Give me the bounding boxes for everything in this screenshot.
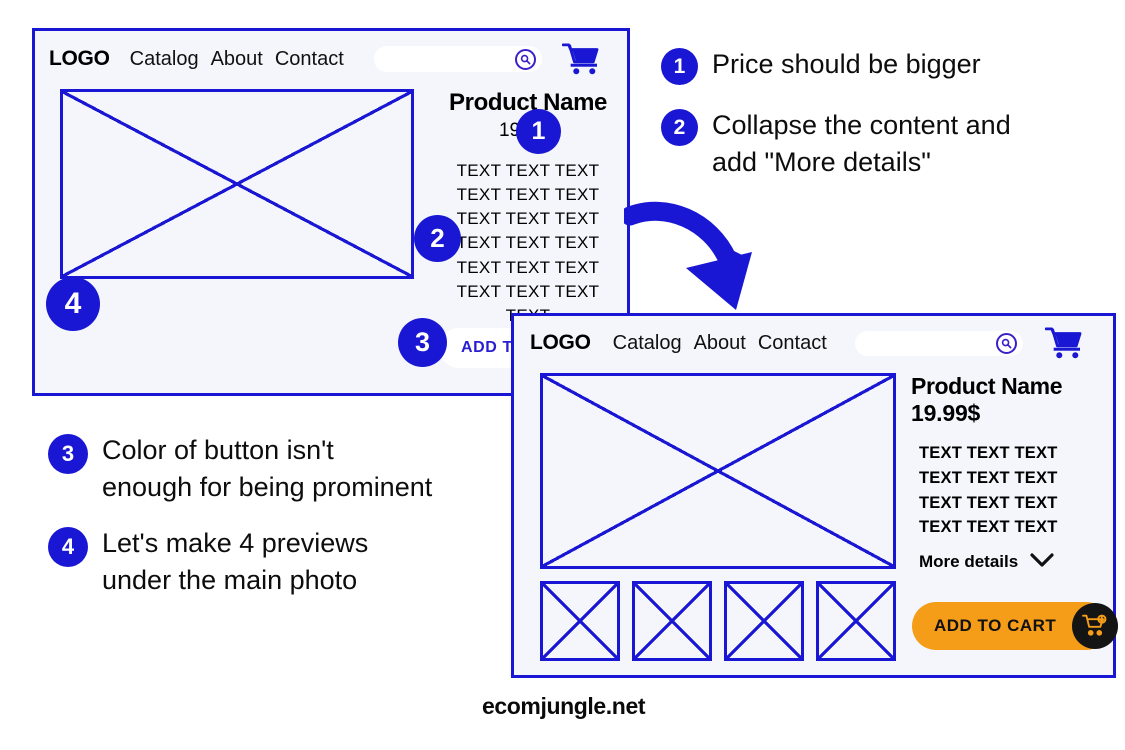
product-features-before: TEXT TEXT TEXT TEXT TEXT TEXT TEXT TEXT …: [433, 159, 623, 328]
feature-line: TEXT TEXT TEXT: [433, 280, 623, 304]
main-nav: Catalog About Contact: [130, 48, 344, 71]
product-thumbnail-3[interactable]: [724, 581, 804, 661]
product-info-after: Product Name 19.99$ TEXT TEXT TEXT TEXT …: [911, 373, 1101, 572]
shopping-cart-icon[interactable]: [1045, 327, 1083, 359]
feature-line: TEXT TEXT TEXT: [433, 207, 623, 231]
more-details-toggle[interactable]: More details: [911, 552, 1101, 572]
add-to-cart-label: ADD TO CART: [934, 616, 1056, 636]
site-header-before: LOGO Catalog About Contact: [35, 31, 627, 87]
product-main-image-placeholder: [540, 373, 896, 569]
product-price: 19.99$: [911, 400, 1101, 427]
feature-line: TEXT TEXT TEXT: [919, 491, 1101, 516]
feature-line: TEXT TEXT TEXT: [433, 183, 623, 207]
annotation-2: 2 Collapse the content and add "More det…: [661, 107, 1091, 182]
nav-item-catalog[interactable]: Catalog: [130, 48, 199, 71]
annotation-3: 3 Color of button isn't enough for being…: [48, 432, 518, 507]
feature-line: TEXT TEXT TEXT: [433, 231, 623, 255]
annotation-1: 1 Price should be bigger: [661, 46, 1081, 85]
nav-item-contact[interactable]: Contact: [758, 332, 827, 355]
nav-item-about[interactable]: About: [211, 48, 263, 71]
nav-item-about[interactable]: About: [694, 332, 746, 355]
product-main-image-placeholder: [60, 89, 414, 279]
search-input[interactable]: [855, 331, 1023, 356]
chevron-down-icon: [1030, 552, 1054, 572]
site-header-after: LOGO Catalog About Contact: [514, 316, 1113, 370]
nav-item-contact[interactable]: Contact: [275, 48, 344, 71]
nav-item-catalog[interactable]: Catalog: [613, 332, 682, 355]
annotation-text-4: Let's make 4 previews under the main pho…: [102, 525, 368, 600]
annotation-badge-1: 1: [661, 48, 698, 85]
feature-line: TEXT TEXT TEXT: [433, 256, 623, 280]
wireframe-after: LOGO Catalog About Contact: [511, 313, 1116, 678]
product-thumbnail-list: [540, 581, 896, 661]
feature-line: TEXT TEXT TEXT: [919, 441, 1101, 466]
search-icon[interactable]: [515, 49, 536, 70]
annotation-badge-2: 2: [661, 109, 698, 146]
main-nav: Catalog About Contact: [613, 332, 827, 355]
footer-brand: ecomjungle.net: [482, 693, 645, 720]
annotation-text-2: Collapse the content and add "More detai…: [712, 107, 1011, 182]
marker-2: 2: [414, 215, 461, 262]
annotation-4: 4 Let's make 4 previews under the main p…: [48, 525, 488, 600]
product-thumbnail-1[interactable]: [540, 581, 620, 661]
curved-down-right-arrow-icon: [624, 198, 759, 318]
product-features-after: TEXT TEXT TEXT TEXT TEXT TEXT TEXT TEXT …: [911, 441, 1101, 540]
annotation-text-1: Price should be bigger: [712, 46, 981, 83]
feature-line: TEXT TEXT TEXT: [919, 515, 1101, 540]
annotation-badge-4: 4: [48, 527, 88, 567]
add-to-cart-wrap-after: ADD TO CART: [912, 602, 1110, 650]
more-details-label: More details: [919, 552, 1018, 572]
logo[interactable]: LOGO: [49, 47, 110, 71]
search-input[interactable]: [374, 46, 542, 72]
shopping-cart-icon[interactable]: [562, 43, 600, 75]
product-name: Product Name: [911, 373, 1101, 400]
marker-3: 3: [398, 318, 447, 367]
marker-4: 4: [46, 277, 100, 331]
annotation-text-3: Color of button isn't enough for being p…: [102, 432, 432, 507]
annotation-badge-3: 3: [48, 434, 88, 474]
logo[interactable]: LOGO: [530, 331, 591, 355]
search-icon[interactable]: [996, 333, 1017, 354]
product-thumbnail-4[interactable]: [816, 581, 896, 661]
marker-1: 1: [516, 109, 561, 154]
feature-line: TEXT TEXT TEXT: [919, 466, 1101, 491]
feature-line: TEXT TEXT TEXT: [433, 159, 623, 183]
cart-add-icon[interactable]: [1072, 603, 1118, 649]
product-thumbnail-2[interactable]: [632, 581, 712, 661]
